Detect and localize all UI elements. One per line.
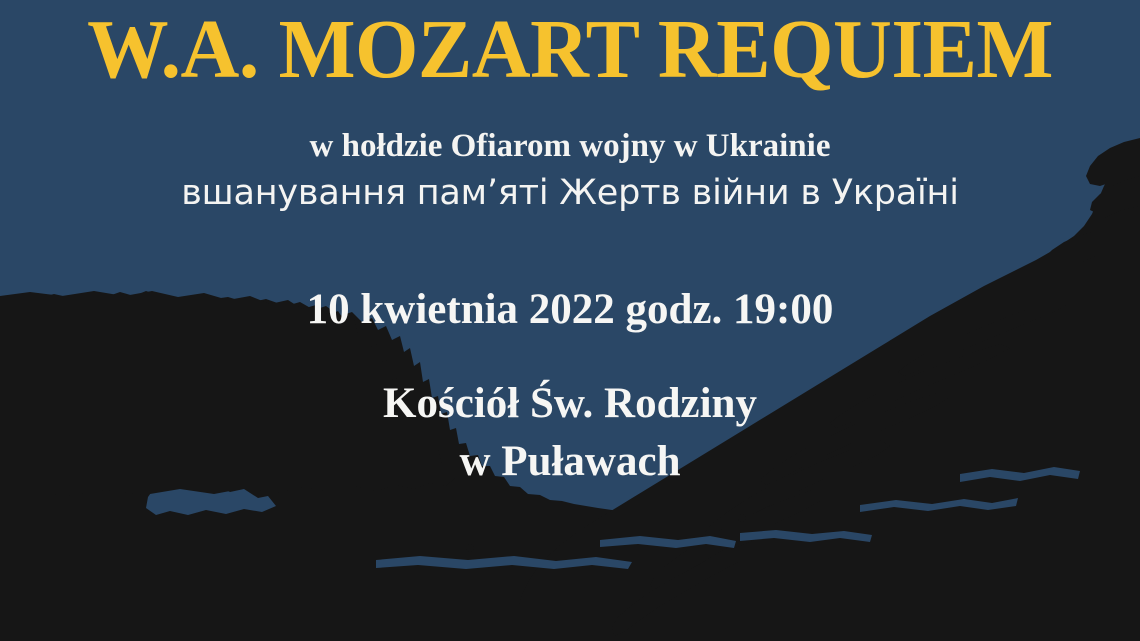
event-date-time: 10 kwietnia 2022 godz. 19:00 <box>0 286 1140 333</box>
poster-text-layer: W.A. MOZART REQUIEM w hołdzie Ofiarom wo… <box>0 0 1140 641</box>
subtitle-polish: w hołdzie Ofiarom wojny w Ukrainie <box>0 126 1140 166</box>
event-details-block: 10 kwietnia 2022 godz. 19:00 Kościół Św.… <box>0 286 1140 491</box>
event-city: w Puławach <box>0 433 1140 491</box>
subtitle-block: w hołdzie Ofiarom wojny w Ukrainie вшану… <box>0 126 1140 214</box>
concert-poster: W.A. MOZART REQUIEM w hołdzie Ofiarom wo… <box>0 0 1140 641</box>
event-venue: Kościół Św. Rodziny <box>0 375 1140 433</box>
page-title: W.A. MOZART REQUIEM <box>17 8 1123 92</box>
subtitle-ukrainian: вшанування пам’яті Жертв війни в Україні <box>0 172 1140 214</box>
